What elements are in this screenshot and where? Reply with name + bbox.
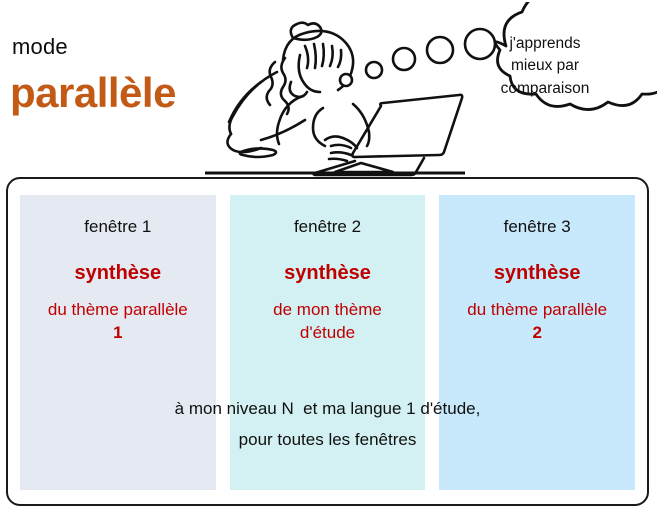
column-backgrounds	[6, 177, 649, 506]
page-title: parallèle	[10, 72, 176, 114]
footer-caption: à mon niveau N et ma langue 1 d'étude, p…	[6, 393, 649, 456]
bubble-line-1: j'apprends	[470, 33, 620, 55]
thought-bubble-text: j'apprends mieux par comparaison	[470, 33, 620, 100]
bubble-line-3: comparaison	[470, 78, 620, 100]
header: mode parallèle	[0, 0, 657, 178]
footer-line-1: à mon niveau N et ma langue 1 d'étude,	[6, 393, 649, 424]
footer-line-2: pour toutes les fenêtres	[6, 424, 649, 455]
mode-label: mode	[12, 36, 68, 58]
bubble-line-2: mieux par	[470, 55, 620, 77]
